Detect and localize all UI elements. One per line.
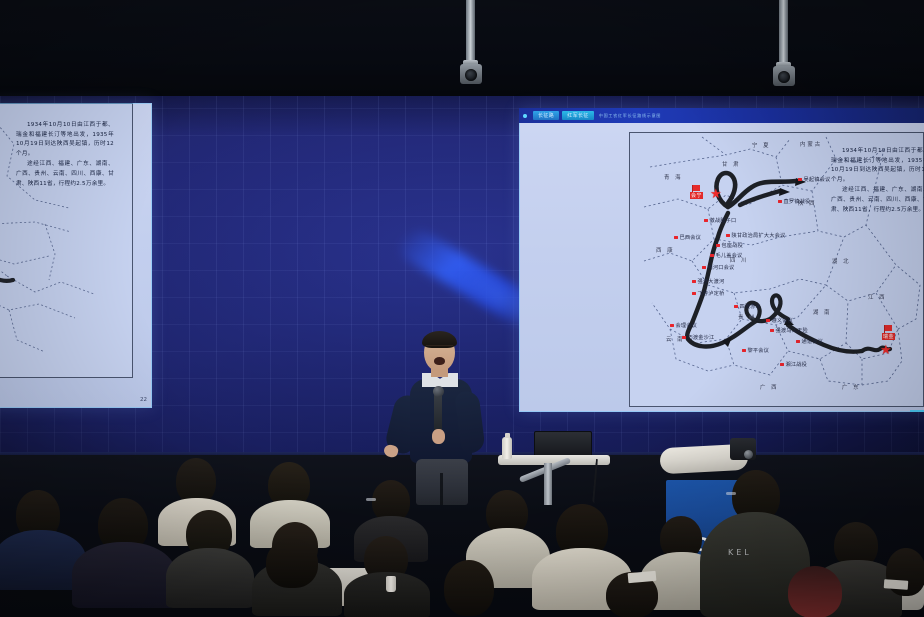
podium-knob-icon[interactable]	[744, 450, 753, 459]
slide-right-description: 1934年10月10日由江西于都、瑞金和福建长汀等地出发，1935年10月19日…	[831, 147, 924, 216]
event-dot-icon	[692, 280, 696, 284]
presenter-mouth	[434, 357, 445, 365]
map-event-marker[interactable]: 激战腊子口	[704, 217, 736, 224]
event-label: 包座战役	[722, 242, 744, 249]
glasses-icon	[726, 492, 736, 495]
event-label: 会理会议	[676, 322, 698, 329]
map-event-marker[interactable]: 包座战役	[716, 242, 743, 249]
header-tag-secondary[interactable]: 红军长征	[562, 111, 594, 120]
map-event-marker[interactable]: 会理会议	[670, 322, 697, 329]
event-dot-icon	[682, 336, 686, 340]
event-dot-icon	[780, 363, 784, 367]
event-dot-icon	[710, 254, 714, 258]
event-label: 毛儿盖会议	[716, 252, 743, 259]
slide-right-paragraph-2: 途经江西、福建、广东、湖南、广西、贵州、云南、四川、西康、甘肃、陕西11省，行程…	[831, 186, 924, 215]
event-dot-icon	[770, 329, 774, 333]
map-event-marker[interactable]: 陕甘政治局扩大大会议	[726, 232, 785, 239]
huining-star-icon: ★	[710, 187, 722, 200]
presenter-right-hand	[432, 429, 445, 444]
map-province-label: 宁 夏	[752, 141, 771, 149]
event-dot-icon	[778, 200, 782, 204]
map-event-marker[interactable]: 强渡乌江天险	[770, 327, 808, 334]
map-province-label: 西 康	[656, 246, 675, 254]
cup-icon	[386, 576, 396, 592]
event-label: 飞夺泸定桥	[698, 290, 725, 297]
event-dot-icon	[716, 244, 720, 248]
map-event-marker[interactable]: 遵义会议	[766, 317, 793, 324]
slide-left-page-number: 22	[140, 397, 147, 403]
map-event-marker[interactable]: 巴西会议	[674, 234, 701, 241]
map-event-marker[interactable]: 黎平会议	[742, 347, 769, 354]
slide-left-body: 湖北 湖南 江西 广东 瑞金 ★ 1934年10月10日由江西于都、瑞金和福建长…	[0, 103, 152, 408]
map-province-label: 湖 南	[813, 308, 832, 316]
ceiling-projector-right-icon	[773, 66, 795, 86]
map-city-label: 瑞金	[882, 333, 895, 340]
corner-bracket-bottom-right-icon	[910, 398, 924, 412]
event-dot-icon	[796, 340, 800, 344]
map-event-marker[interactable]: 湘江战役	[780, 361, 807, 368]
map-province-label: 贵 州	[738, 313, 757, 321]
map-province-label: 江 西	[868, 293, 887, 301]
map-event-marker[interactable]: 吴起镇会议	[798, 176, 830, 183]
map-event-marker[interactable]: 毛儿盖会议	[710, 252, 742, 259]
map-event-marker[interactable]: 飞夺泸定桥	[692, 290, 724, 297]
event-dot-icon	[670, 324, 674, 328]
laptop-screen[interactable]	[534, 431, 592, 457]
event-label: 巴西会议	[680, 234, 702, 241]
audience-head	[788, 566, 842, 617]
event-dot-icon	[692, 292, 696, 296]
map-province-label: 广 东	[842, 383, 861, 391]
slide-left-paragraph-1: 1934年10月10日由江西于都、瑞金和福建长汀等地出发，1935年10月19日…	[16, 121, 114, 159]
jacket-text: KEL	[728, 548, 752, 557]
event-label: 巧渡金沙江	[688, 334, 715, 341]
ceiling-projector-right-pole	[779, 0, 788, 66]
map-province-label: 广 西	[760, 383, 779, 391]
event-dot-icon	[734, 305, 738, 309]
slide-left-paragraph-2: 途经江西、福建、广东、湖南、广西、贵州、云南、四川、西康、甘肃、陕西11省，行程…	[16, 160, 114, 189]
slide-right-paragraph-1: 1934年10月10日由江西于都、瑞金和福建长汀等地出发，1935年10月19日…	[831, 147, 924, 185]
ruijin-star-icon: ★	[880, 343, 892, 356]
event-dot-icon	[798, 178, 802, 182]
map-event-marker[interactable]: 巧渡金沙江	[682, 334, 714, 341]
event-dot-icon	[742, 349, 746, 353]
map-event-marker[interactable]: 通道会议	[796, 338, 823, 345]
presenter-legs	[416, 459, 468, 505]
slide-right-body: 宁 夏 内蒙古 甘 肃 青 海 陕 西 西 康 四 川 湖 北 湖 南 江 西 …	[519, 123, 924, 412]
huining-flag-icon	[692, 185, 700, 191]
audience-shoulders	[72, 542, 176, 608]
map-province-label: 湖 北	[832, 257, 851, 265]
map-province-label: 甘 肃	[722, 160, 741, 168]
event-label: 陕甘政治局扩大大会议	[732, 232, 786, 239]
event-label: 强渡乌江天险	[776, 327, 808, 334]
event-dot-icon	[766, 319, 770, 323]
slide-right-header-bar: 长征路 红军长征 中国工农红军长征路线示意图	[519, 108, 924, 123]
event-label: 黎平会议	[748, 347, 770, 354]
event-dot-icon	[674, 236, 678, 240]
event-label: 湘江战役	[786, 361, 808, 368]
cart-post	[544, 463, 552, 505]
glasses-icon	[366, 498, 376, 501]
map-province-label: 青 海	[664, 173, 683, 181]
audience-head	[444, 560, 494, 616]
presenter-glasses-icon	[426, 345, 453, 351]
event-dot-icon	[704, 219, 708, 223]
event-dot-icon	[726, 234, 730, 238]
audience-shoulders	[166, 548, 254, 608]
map-event-marker[interactable]: 强渡大渡河	[692, 278, 724, 285]
header-tag-primary[interactable]: 长征路	[533, 111, 559, 120]
lecture-hall-scene: 湖北 湖南 江西 广东 瑞金 ★ 1934年10月10日由江西于都、瑞金和福建长…	[0, 0, 924, 617]
event-label: 通道会议	[802, 338, 824, 345]
slide-left-description: 1934年10月10日由江西于都、瑞金和福建长汀等地出发，1935年10月19日…	[16, 121, 114, 190]
header-node-icon	[523, 114, 527, 118]
map-event-marker[interactable]: 两河口会议	[702, 264, 734, 271]
ceiling-projector-left-pole	[466, 0, 475, 64]
map-event-marker[interactable]: 直罗镇战役	[778, 198, 810, 205]
paper-sheet	[884, 579, 909, 590]
event-label: 两河口会议	[708, 264, 735, 271]
event-label: 强渡大渡河	[698, 278, 725, 285]
map-city-label: 会宁	[690, 192, 703, 199]
event-label: 四渡赤水	[740, 303, 762, 310]
slide-panel-right[interactable]: 长征路 红军长征 中国工农红军长征路线示意图	[519, 108, 924, 412]
event-label: 吴起镇会议	[804, 176, 831, 183]
audience-head	[266, 538, 318, 588]
event-label: 遵义会议	[772, 317, 794, 324]
ruijin-flag-icon	[884, 325, 892, 331]
event-dot-icon	[702, 266, 706, 270]
header-subtitle: 中国工农红军长征路线示意图	[599, 113, 661, 119]
event-label: 直罗镇战役	[784, 198, 811, 205]
slide-panel-left[interactable]: 湖北 湖南 江西 广东 瑞金 ★ 1934年10月10日由江西于都、瑞金和福建长…	[0, 103, 152, 408]
map-event-marker[interactable]: 四渡赤水	[734, 303, 761, 310]
map-province-label: 内蒙古	[800, 140, 822, 148]
water-bottle-icon	[502, 437, 512, 459]
event-label: 激战腊子口	[710, 217, 737, 224]
ceiling-projector-left-icon	[460, 64, 482, 84]
